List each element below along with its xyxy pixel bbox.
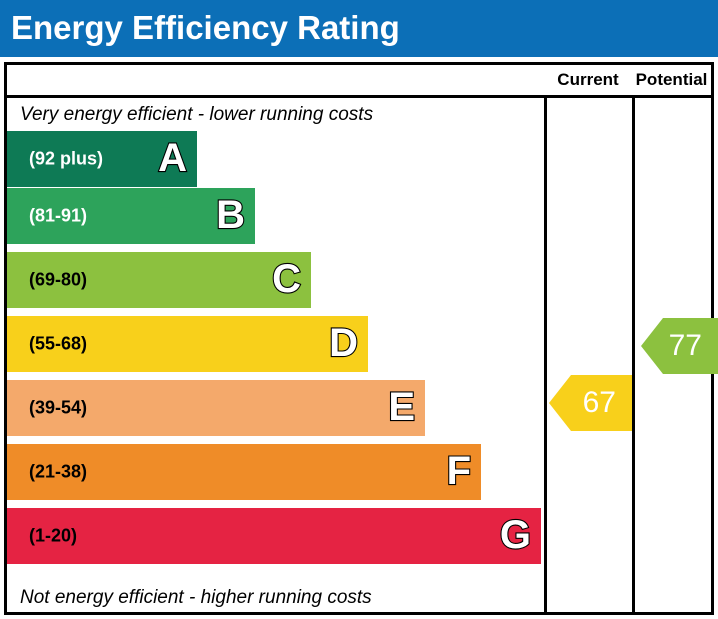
chart-title-bar: Energy Efficiency Rating (0, 0, 718, 57)
band-a-range: (92 plus) (29, 149, 103, 170)
band-b-letter: B (216, 195, 245, 235)
band-c: (69-80) C (7, 252, 311, 308)
current-rating-arrow: 67 (549, 375, 632, 431)
band-e-range: (39-54) (29, 398, 87, 419)
band-c-range: (69-80) (29, 270, 87, 291)
band-e-letter: E (388, 387, 415, 427)
band-e: (39-54) E (7, 380, 425, 436)
caption-not-efficient: Not energy efficient - higher running co… (7, 581, 544, 615)
potential-rating-value: 77 (669, 331, 718, 361)
band-g-range: (1-20) (29, 526, 77, 547)
band-b-range: (81-91) (29, 206, 87, 227)
page-title: Energy Efficiency Rating (11, 6, 400, 50)
band-f-letter: F (447, 451, 471, 491)
band-g-letter: G (500, 515, 531, 555)
column-header-current: Current (544, 65, 632, 95)
band-a: (92 plus) A (7, 131, 197, 187)
band-f-range: (21-38) (29, 462, 87, 483)
band-a-letter: A (158, 138, 187, 178)
column-divider-potential (632, 98, 635, 615)
energy-efficiency-rating-chart: Energy Efficiency Rating Current Potenti… (0, 0, 718, 619)
rating-bands: (92 plus) A (81-91) B (69-80) C (55-68) … (7, 131, 544, 581)
chart-table: Current Potential Very energy efficient … (4, 62, 714, 615)
column-header-potential: Potential (632, 65, 711, 95)
band-c-letter: C (272, 259, 301, 299)
potential-rating-arrow: 77 (641, 318, 718, 374)
column-divider-current (544, 98, 547, 615)
table-header-row: Current Potential (7, 65, 711, 98)
band-d-letter: D (329, 323, 358, 363)
band-b: (81-91) B (7, 188, 255, 244)
band-d-range: (55-68) (29, 334, 87, 355)
band-g: (1-20) G (7, 508, 541, 564)
caption-very-efficient: Very energy efficient - lower running co… (7, 98, 544, 131)
band-f: (21-38) F (7, 444, 481, 500)
band-d: (55-68) D (7, 316, 368, 372)
current-rating-value: 67 (583, 388, 632, 418)
